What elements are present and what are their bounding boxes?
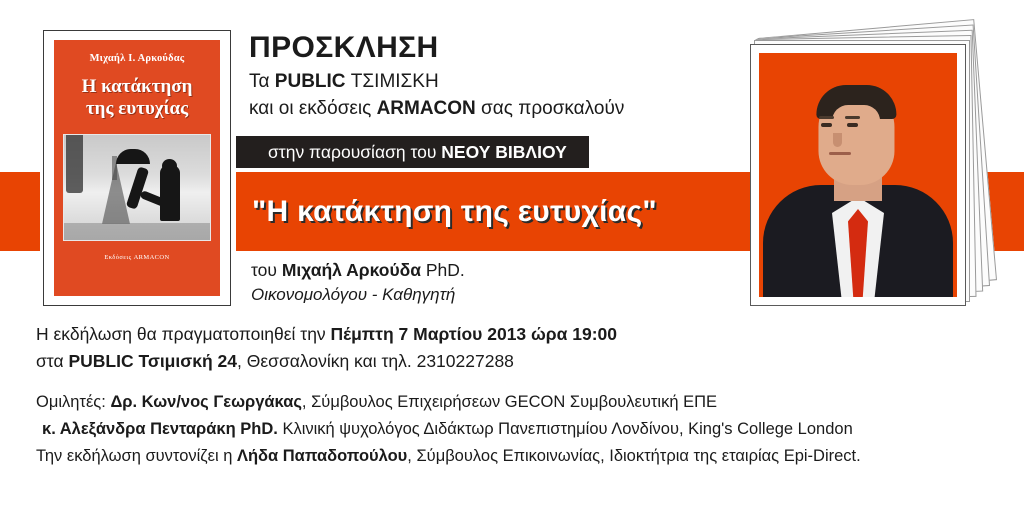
book-publisher: Εκδόσεις ARMACON xyxy=(104,254,169,261)
author-byline-name: του Μιχαήλ Αρκούδα PhD. xyxy=(251,259,465,282)
author-byline-subtitle: Οικονομολόγου - Καθηγητή xyxy=(251,284,465,307)
byline-pre: του xyxy=(251,260,282,280)
mouth-shape xyxy=(829,152,851,155)
invitation-line-2-pre: και οι εκδόσεις xyxy=(249,98,377,119)
girl-silhouette xyxy=(160,165,180,221)
speaker-2-name: κ. Αλεξάνδρα Πενταράκη PhD. xyxy=(42,420,278,438)
speaker-2-role: Κλινική ψυχολόγος Διδάκτωρ Πανεπιστημίου… xyxy=(278,420,853,438)
event-details: Η εκδήλωση θα πραγματοποιηθεί την Πέμπτη… xyxy=(36,322,996,469)
event-venue-line: στα PUBLIC Τσιμισκή 24, Θεσσαλονίκη και … xyxy=(36,349,996,374)
venue-pre: στα xyxy=(36,351,68,371)
new-book-band-pre: στην παρουσίαση του xyxy=(252,142,441,162)
new-book-band-bold: ΝΕΟΥ ΒΙΒΛΙΟΥ xyxy=(441,142,566,162)
event-datetime-bold: Πέμπτη 7 Μαρτίου 2013 ώρα 19:00 xyxy=(331,324,617,344)
new-book-band: στην παρουσίαση του ΝΕΟΥ ΒΙΒΛΙΟΥ xyxy=(236,136,589,168)
author-portrait-photo xyxy=(759,53,957,297)
invitation-line-2-bold: ARMACON xyxy=(377,98,476,119)
book-title: Η κατάκτηση της ευτυχίας xyxy=(82,76,193,120)
event-datetime-line: Η εκδήλωση θα πραγματοποιηθεί την Πέμπτη… xyxy=(36,322,996,347)
invitation-line-2: και οι εκδόσεις ARMACON σας προσκαλούν xyxy=(249,97,624,121)
moderator-role: , Σύμβουλος Επικοινωνίας, Ιδιοκτήτρια τη… xyxy=(407,447,860,465)
eye-right-shape xyxy=(847,123,858,127)
book-author-name: Μιχαήλ Ι. Αρκούδας xyxy=(90,53,185,64)
invitation-header: ΠΡΟΣΚΛΗΣΗ Τα PUBLIC ΤΣΙΜΙΣΚΗ και οι εκδό… xyxy=(249,32,624,121)
nose-shape xyxy=(833,133,842,147)
speaker-2-line: κ. Αλεξάνδρα Πενταράκη PhD. Κλινική ψυχο… xyxy=(36,418,996,442)
eye-left-shape xyxy=(821,123,832,127)
invitation-line-1: Τα PUBLIC ΤΣΙΜΙΣΚΗ xyxy=(249,70,624,94)
speaker-1-line: Ομιλητές: Δρ. Κων/νος Γεωργάκας, Σύμβουλ… xyxy=(36,391,996,415)
venue-post: , Θεσσαλονίκη και τηλ. 2310227288 xyxy=(237,351,514,371)
byline-bold: Μιχαήλ Αρκούδα xyxy=(282,260,421,280)
speaker-1-name: Δρ. Κων/νος Γεωργάκας xyxy=(110,393,301,411)
book-title-line-1: Η κατάκτηση xyxy=(82,76,193,98)
speakers-label: Ομιλητές: xyxy=(36,393,110,411)
book-cover-front: Μιχαήλ Ι. Αρκούδας Η κατάκτηση της ευτυχ… xyxy=(54,40,220,296)
venue-bold: PUBLIC Τσιμισκή 24 xyxy=(68,351,237,371)
author-portrait-stack xyxy=(748,28,1010,303)
invitation-line-1-pre: Τα xyxy=(249,71,275,92)
eyebrow-left-shape xyxy=(819,116,834,119)
author-portrait-frame xyxy=(750,44,966,306)
speaker-1-role: , Σύμβουλος Επιχειρήσεων GECON Συμβουλευ… xyxy=(302,393,717,411)
pillar-shape xyxy=(66,135,83,193)
book-title-banner-text: "Η κατάκτηση της ευτυχίας" xyxy=(236,195,657,229)
orange-band-left xyxy=(0,172,40,251)
book-title-line-2: της ευτυχίας xyxy=(82,98,193,120)
ground-shape xyxy=(64,223,210,240)
moderator-line: Την εκδήλωση συντονίζει η Λήδα Παπαδοπού… xyxy=(36,445,996,469)
invitation-poster: Μιχαήλ Ι. Αρκούδας Η κατάκτηση της ευτυχ… xyxy=(0,0,1024,527)
event-pre: Η εκδήλωση θα πραγματοποιηθεί την xyxy=(36,324,331,344)
invitation-line-1-post: ΤΣΙΜΙΣΚΗ xyxy=(346,71,439,92)
author-byline: του Μιχαήλ Αρκούδα PhD. Οικονομολόγου - … xyxy=(251,259,465,307)
moderator-pre: Την εκδήλωση συντονίζει η xyxy=(36,447,237,465)
book-cover-photo xyxy=(63,134,211,241)
invitation-line-1-bold: PUBLIC xyxy=(275,71,346,92)
eyebrow-right-shape xyxy=(845,116,860,119)
new-book-band-text: στην παρουσίαση του ΝΕΟΥ ΒΙΒΛΙΟΥ xyxy=(236,142,567,163)
invitation-line-2-post: σας προσκαλούν xyxy=(476,98,625,119)
page-title: ΠΡΟΣΚΛΗΣΗ xyxy=(249,32,624,64)
moderator-name: Λήδα Παπαδοπούλου xyxy=(237,447,407,465)
book-cover: Μιχαήλ Ι. Αρκούδας Η κατάκτηση της ευτυχ… xyxy=(43,30,231,306)
byline-post: PhD. xyxy=(421,260,465,280)
